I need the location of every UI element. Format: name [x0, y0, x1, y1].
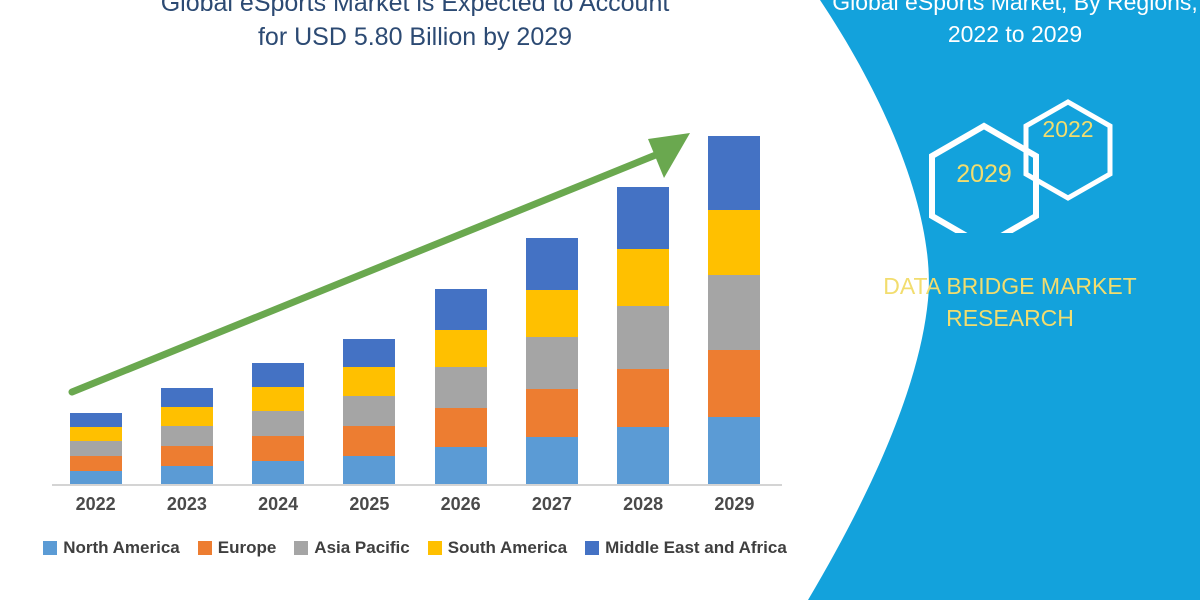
bar-stack-2023	[161, 388, 213, 485]
stacked-bar-plot	[50, 110, 780, 485]
bar-segment	[70, 456, 122, 471]
bar-segment	[617, 306, 669, 369]
legend-swatch-icon	[585, 541, 599, 555]
chart-panel: Global eSports Market is Expected to Acc…	[0, 0, 830, 600]
bar-segment	[526, 437, 578, 485]
hexagon-label-2022: 2022	[1022, 116, 1114, 143]
legend-swatch-icon	[428, 541, 442, 555]
branding-panel: Global eSports Market, By Regions, 2022 …	[790, 0, 1200, 600]
bar-segment	[70, 427, 122, 441]
x-tick-2023: 2023	[142, 494, 232, 515]
bar-segment	[161, 426, 213, 446]
legend-item[interactable]: South America	[428, 538, 567, 558]
bar-segment	[617, 249, 669, 306]
x-tick-2027: 2027	[507, 494, 597, 515]
bar-stack-2027	[526, 238, 578, 485]
bar-segment	[252, 461, 304, 485]
bar-segment	[708, 136, 760, 210]
bar-segment	[617, 187, 669, 249]
x-tick-2029: 2029	[689, 494, 779, 515]
brand-name: DATA BRIDGE MARKET RESEARCH	[845, 270, 1175, 334]
page-title: Global eSports Market is Expected to Acc…	[40, 0, 790, 54]
bar-segment	[252, 387, 304, 411]
bar-segment	[252, 436, 304, 461]
legend-label: Asia Pacific	[314, 538, 409, 558]
bar-segment	[343, 426, 395, 456]
legend-label: Europe	[218, 538, 277, 558]
bar-segment	[252, 363, 304, 387]
bar-segment	[708, 417, 760, 485]
bar-segment	[161, 388, 213, 407]
x-tick-2024: 2024	[233, 494, 323, 515]
legend-label: South America	[448, 538, 567, 558]
infographic-canvas: Global eSports Market is Expected to Acc…	[0, 0, 1200, 600]
bar-segment	[161, 466, 213, 485]
bar-segment	[526, 337, 578, 389]
bar-segment	[252, 411, 304, 436]
bar-segment	[526, 238, 578, 290]
bar-segment	[70, 413, 122, 427]
bar-segment	[343, 396, 395, 426]
x-tick-2022: 2022	[51, 494, 141, 515]
legend-label: North America	[63, 538, 180, 558]
legend-item[interactable]: Europe	[198, 538, 277, 558]
bar-stack-2022	[70, 413, 122, 485]
bar-stack-2029	[708, 136, 760, 485]
bar-segment	[526, 290, 578, 337]
bar-segment	[70, 441, 122, 456]
bar-segment	[526, 389, 578, 437]
panel-title: Global eSports Market, By Regions, 2022 …	[830, 0, 1200, 50]
bar-segment	[161, 407, 213, 426]
bar-segment	[435, 289, 487, 330]
legend-item[interactable]: North America	[43, 538, 180, 558]
bar-segment	[708, 350, 760, 417]
chart-legend: North AmericaEuropeAsia PacificSouth Ame…	[40, 538, 790, 558]
bar-stack-2026	[435, 289, 487, 485]
legend-item[interactable]: Asia Pacific	[294, 538, 409, 558]
bar-segment	[343, 456, 395, 485]
bar-segment	[343, 367, 395, 396]
x-tick-2026: 2026	[416, 494, 506, 515]
bar-segment	[617, 427, 669, 485]
bar-stack-2028	[617, 187, 669, 485]
legend-swatch-icon	[294, 541, 308, 555]
bar-segment	[70, 471, 122, 485]
legend-label: Middle East and Africa	[605, 538, 787, 558]
bar-segment	[435, 367, 487, 408]
bar-stack-2024	[252, 363, 304, 485]
x-tick-2025: 2025	[324, 494, 414, 515]
legend-swatch-icon	[198, 541, 212, 555]
bar-segment	[161, 446, 213, 466]
bar-segment	[435, 330, 487, 367]
bar-segment	[708, 275, 760, 350]
x-axis-tick-labels: 20222023202420252026202720282029	[50, 494, 780, 524]
x-tick-2028: 2028	[598, 494, 688, 515]
hexagon-label-2029: 2029	[932, 160, 1036, 189]
bar-segment	[343, 339, 395, 367]
legend-item[interactable]: Middle East and Africa	[585, 538, 787, 558]
bar-segment	[435, 408, 487, 447]
legend-swatch-icon	[43, 541, 57, 555]
x-axis-line	[52, 484, 782, 486]
bar-segment	[435, 447, 487, 485]
bar-stack-2025	[343, 339, 395, 485]
hexagon-badges: 2022 2029	[910, 98, 1140, 233]
bar-segment	[708, 210, 760, 275]
bar-segment	[617, 369, 669, 427]
